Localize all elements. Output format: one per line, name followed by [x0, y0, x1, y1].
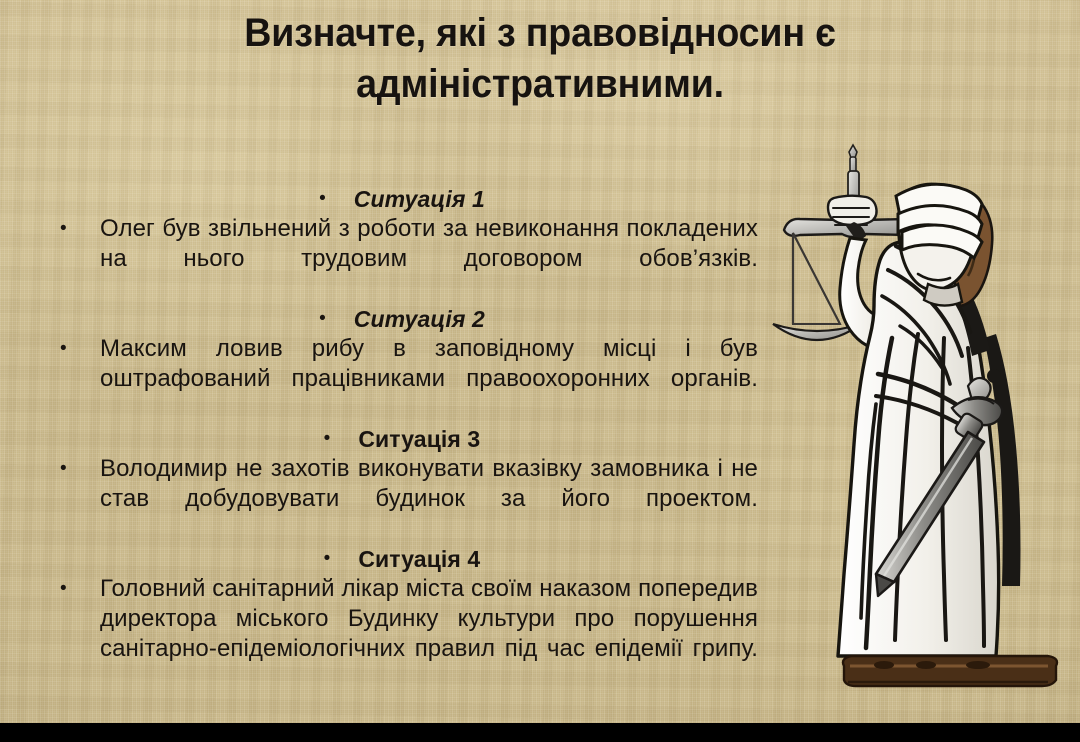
- bullet-icon: •: [324, 429, 331, 448]
- situation-label-2: Ситуація 2: [354, 306, 485, 333]
- slide-title: Визначте, які з правовідносин є адмініст…: [89, 8, 991, 110]
- bullet-icon: •: [319, 189, 326, 208]
- situations-list: • Ситуація 1 • Олег був звільнений з роб…: [46, 186, 758, 696]
- situation-heading-3: • Ситуація 3: [46, 426, 758, 453]
- situation-block-2: • Ситуація 2 • Максим ловив рибу в запов…: [46, 306, 758, 424]
- presentation-slide: Визначте, які з правовідносин є адмініст…: [0, 0, 1080, 742]
- bullet-icon: •: [324, 549, 331, 568]
- situation-text-2: Максим ловив рибу в заповідному місці і …: [100, 334, 758, 424]
- situation-label-3: Ситуація 3: [358, 426, 480, 453]
- bullet-icon: •: [46, 454, 100, 484]
- bullet-icon: •: [46, 214, 100, 244]
- situation-body-4: • Головний санітарний лікар міста своїм …: [46, 574, 758, 694]
- situation-text-3: Володимир не захотів виконувати вказівку…: [100, 454, 758, 544]
- situation-body-1: • Олег був звільнений з роботи за невико…: [46, 214, 758, 304]
- situation-label-4: Ситуація 4: [358, 546, 480, 573]
- bullet-icon: •: [319, 309, 326, 328]
- situation-block-3: • Ситуація 3 • Володимир не захотів вико…: [46, 426, 758, 544]
- bullet-icon: •: [46, 334, 100, 364]
- lady-justice-icon: [772, 138, 1072, 694]
- situation-heading-2: • Ситуація 2: [46, 306, 758, 333]
- situation-block-1: • Ситуація 1 • Олег був звільнений з роб…: [46, 186, 758, 304]
- letterbox-bar-bottom: [0, 723, 1080, 742]
- situation-body-3: • Володимир не захотів виконувати вказів…: [46, 454, 758, 544]
- situation-text-1: Олег був звільнений з роботи за невикона…: [100, 214, 758, 304]
- bullet-icon: •: [46, 574, 100, 604]
- situation-heading-4: • Ситуація 4: [46, 546, 758, 573]
- situation-label-1: Ситуація 1: [354, 186, 485, 213]
- situation-heading-1: • Ситуація 1: [46, 186, 758, 213]
- situation-body-2: • Максим ловив рибу в заповідному місці …: [46, 334, 758, 424]
- situation-text-4: Головний санітарний лікар міста своїм на…: [100, 574, 758, 694]
- situation-block-4: • Ситуація 4 • Головний санітарний лікар…: [46, 546, 758, 694]
